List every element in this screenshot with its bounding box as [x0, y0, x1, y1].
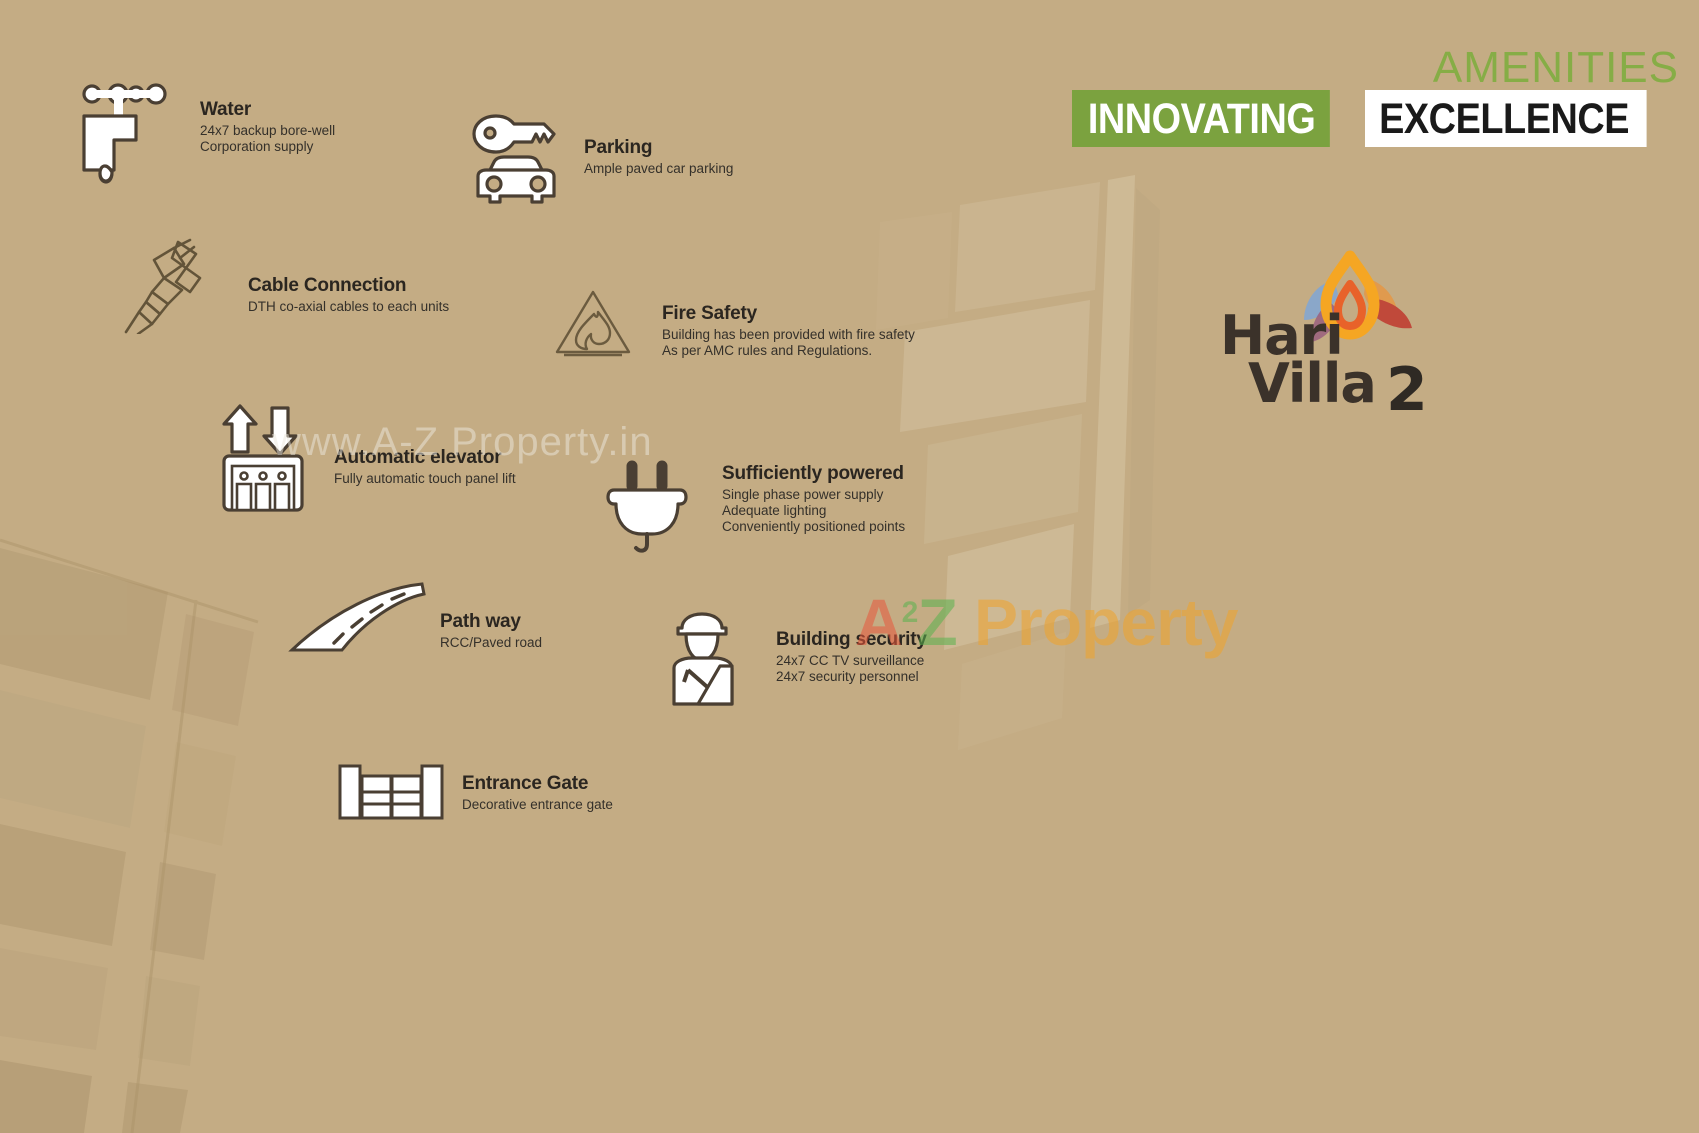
- logo-number: 2: [1386, 360, 1428, 420]
- logo-line2: Villa: [1220, 360, 1376, 408]
- amenity-description: Decorative entrance gate: [462, 797, 613, 813]
- desc-line: Corporation supply: [200, 139, 335, 155]
- amenity-title: Entrance Gate: [462, 774, 613, 794]
- amenity-description: Building has been provided with fire saf…: [662, 327, 915, 359]
- amenity-title: Cable Connection: [248, 276, 449, 296]
- amenity-automatic-elevator: Automatic elevator Fully automatic touch…: [218, 396, 516, 517]
- slogan-excellence: EXCELLENCE: [1365, 90, 1647, 147]
- amenity-description: RCC/Paved road: [440, 635, 542, 651]
- desc-line: Decorative entrance gate: [462, 797, 613, 813]
- amenity-description: Ample paved car parking: [584, 161, 733, 177]
- amenity-path-way: Path way RCC/Paved road: [286, 578, 542, 661]
- cable-plug-icon: [124, 238, 216, 339]
- amenity-description: 24x7 backup bore-well Corporation supply: [200, 123, 335, 155]
- logo-wordmark: Hari Villa: [1220, 312, 1376, 408]
- amenity-cable-connection: Cable Connection DTH co-axial cables to …: [124, 238, 449, 339]
- amenity-title: Water: [200, 100, 335, 120]
- slogan-innovating: INNOVATING: [1072, 90, 1329, 147]
- desc-line: Building has been provided with fire saf…: [662, 327, 915, 343]
- desc-line: 24x7 CC TV surveillance: [776, 653, 927, 669]
- amenity-description: DTH co-axial cables to each units: [248, 299, 449, 315]
- amenity-title: Parking: [584, 138, 733, 158]
- desc-line: 24x7 backup bore-well: [200, 123, 335, 139]
- amenity-title: Sufficiently powered: [722, 464, 905, 484]
- gate-icon: [336, 760, 446, 825]
- desc-line: Fully automatic touch panel lift: [334, 471, 516, 487]
- elevator-icon: [218, 396, 308, 517]
- amenity-parking: Parking Ample paved car parking: [470, 112, 733, 217]
- desc-line: Adequate lighting: [722, 503, 905, 519]
- car-key-icon: [470, 112, 562, 217]
- amenity-building-security: Building security 24x7 CC TV surveillanc…: [668, 608, 927, 713]
- desc-line: Conveniently positioned points: [722, 519, 905, 535]
- amenity-description: 24x7 CC TV surveillance 24x7 security pe…: [776, 653, 927, 685]
- header-banner: AMENITIES INNOVATING EXCELLENCE: [1072, 48, 1685, 147]
- desc-line: 24x7 security personnel: [776, 669, 927, 685]
- page-title: AMENITIES: [1072, 48, 1679, 88]
- desc-line: Single phase power supply: [722, 487, 905, 503]
- desc-line: RCC/Paved road: [440, 635, 542, 651]
- water-tap-icon: [78, 78, 174, 193]
- poster-canvas: AMENITIES INNOVATING EXCELLENCE: [0, 0, 1699, 1133]
- amenity-title: Fire Safety: [662, 304, 915, 324]
- desc-line: As per AMC rules and Regulations.: [662, 343, 915, 359]
- desc-line: Ample paved car parking: [584, 161, 733, 177]
- amenity-water: Water 24x7 backup bore-well Corporation …: [78, 78, 335, 193]
- amenity-entrance-gate: Entrance Gate Decorative entrance gate: [336, 760, 613, 825]
- amenity-sufficiently-powered: Sufficiently powered Single phase power …: [604, 460, 905, 563]
- project-logo: Hari Villa 2: [1214, 250, 1454, 420]
- amenity-title: Automatic elevator: [334, 448, 516, 468]
- amenity-title: Path way: [440, 612, 542, 632]
- brand-slogan: INNOVATING EXCELLENCE: [1072, 90, 1685, 147]
- watermark-brand-word: Property: [974, 585, 1237, 659]
- road-icon: [286, 578, 426, 661]
- amenity-description: Fully automatic touch panel lift: [334, 471, 516, 487]
- security-guard-icon: [668, 608, 754, 713]
- fire-triangle-icon: [554, 288, 632, 363]
- amenity-fire-safety: Fire Safety Building has been provided w…: [554, 288, 915, 363]
- amenity-title: Building security: [776, 630, 927, 650]
- amenity-description: Single phase power supply Adequate light…: [722, 487, 905, 535]
- desc-line: DTH co-axial cables to each units: [248, 299, 449, 315]
- power-plug-icon: [604, 460, 696, 563]
